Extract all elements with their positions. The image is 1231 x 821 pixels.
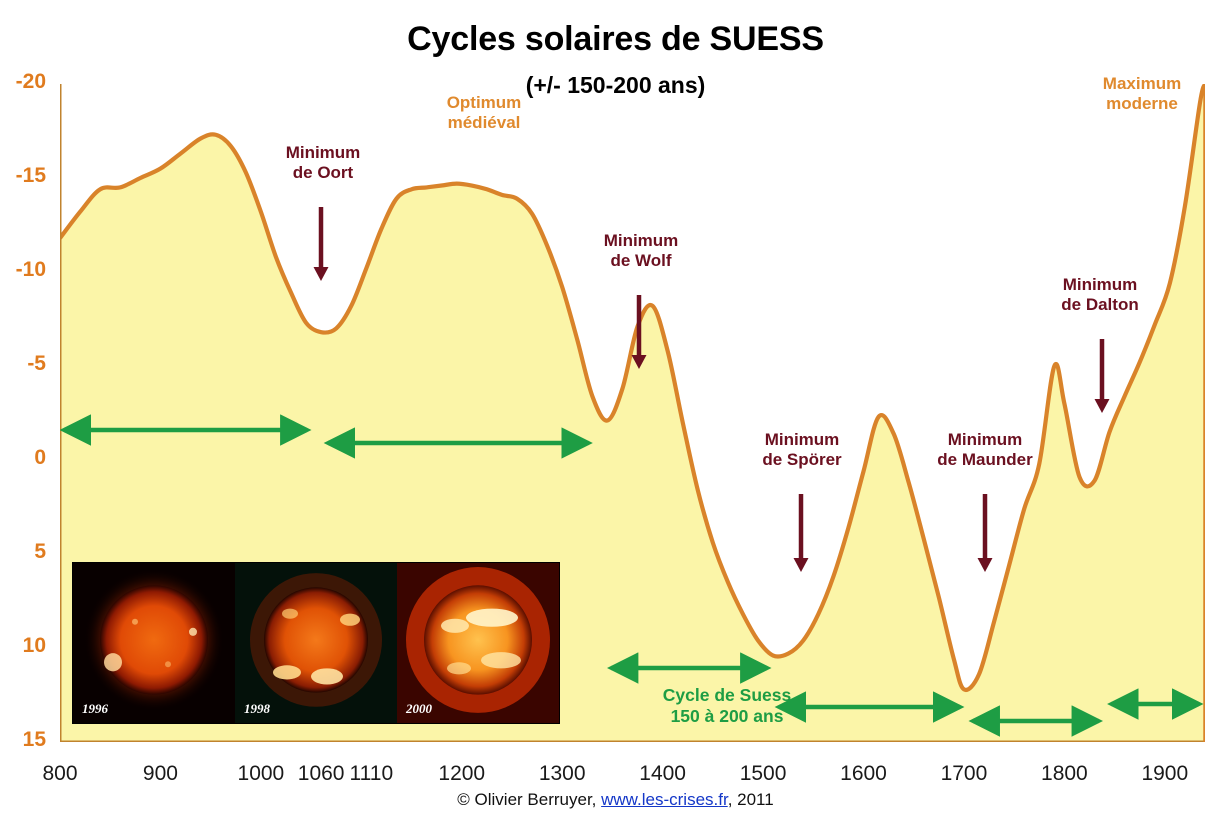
y-axis-label: 5 <box>0 540 46 564</box>
annotation-line-2: médiéval <box>394 113 574 133</box>
minimum-de-dalton-arrow <box>1095 339 1110 413</box>
x-axis-label: 1300 <box>517 762 607 786</box>
chart-title: Cycles solaires de SUESS <box>0 20 1231 59</box>
sun-image-year: 1998 <box>244 701 270 717</box>
cycle-label-line-2: 150 à 200 ans <box>627 706 827 727</box>
minimum-de-sporer-arrow <box>794 494 809 572</box>
copyright-footer: © Olivier Berruyer, www.les-crises.fr, 2… <box>0 790 1231 810</box>
annotation-line-2: moderne <box>1052 94 1231 114</box>
website-link[interactable]: www.les-crises.fr <box>601 790 728 809</box>
annotation-line-2: de Dalton <box>1010 295 1190 315</box>
solar-cycles-chart: Cycles solaires de SUESS (+/- 150-200 an… <box>0 0 1231 821</box>
minimum-de-dalton-label: Minimumde Dalton <box>1010 275 1190 315</box>
annotation-line-2: de Spörer <box>712 450 892 470</box>
y-axis-label: 0 <box>0 446 46 470</box>
x-axis-label: 1110 <box>326 762 416 786</box>
x-axis-label: 1600 <box>819 762 909 786</box>
annotation-line-1: Maximum <box>1052 74 1231 94</box>
x-axis-label: 1900 <box>1120 762 1210 786</box>
x-axis-label: 1400 <box>618 762 708 786</box>
sun-image-2000: 2000 <box>397 563 559 723</box>
y-axis-label: -5 <box>0 352 46 376</box>
copyright-suffix: , 2011 <box>728 790 774 809</box>
x-axis-label: 1200 <box>417 762 507 786</box>
annotation-line-1: Minimum <box>551 231 731 251</box>
maximum-moderne-label: Maximummoderne <box>1052 74 1231 114</box>
sun-images-inset: 1996 1998 <box>72 562 560 724</box>
x-axis-label: 800 <box>15 762 105 786</box>
minimum-de-oort-arrow <box>314 207 329 281</box>
sun-image-1996: 1996 <box>73 563 235 723</box>
annotation-line-1: Minimum <box>1010 275 1190 295</box>
y-axis-label: 10 <box>0 634 46 658</box>
annotation-line-1: Minimum <box>233 143 413 163</box>
sun-icon <box>73 563 235 723</box>
sun-icon <box>397 563 559 723</box>
sun-image-1998: 1998 <box>235 563 397 723</box>
y-axis-label: -10 <box>0 258 46 282</box>
minimum-de-oort-label: Minimumde Oort <box>233 143 413 183</box>
minimum-de-sporer-label: Minimumde Spörer <box>712 430 892 470</box>
annotation-line-2: de Wolf <box>551 251 731 271</box>
y-axis-label: -20 <box>0 70 46 94</box>
minimum-de-wolf-label: Minimumde Wolf <box>551 231 731 271</box>
x-axis-label: 1500 <box>718 762 808 786</box>
x-axis-label: 1700 <box>919 762 1009 786</box>
y-axis-label: 15 <box>0 728 46 752</box>
sun-image-year: 1996 <box>82 701 108 717</box>
sun-image-year: 2000 <box>406 701 432 717</box>
annotation-line-2: de Oort <box>233 163 413 183</box>
annotation-line-1: Minimum <box>712 430 892 450</box>
sun-icon <box>235 563 397 723</box>
minimum-de-maunder-arrow <box>978 494 993 572</box>
cycle-de-suess-label: Cycle de Suess150 à 200 ans <box>627 685 827 726</box>
minimum-de-maunder-label: Minimumde Maunder <box>895 430 1075 470</box>
cycle-label-line-1: Cycle de Suess <box>627 685 827 706</box>
x-axis-label: 900 <box>115 762 205 786</box>
y-axis-label: -15 <box>0 164 46 188</box>
annotation-line-2: de Maunder <box>895 450 1075 470</box>
copyright-prefix: © Olivier Berruyer, <box>457 790 601 809</box>
annotation-line-1: Minimum <box>895 430 1075 450</box>
optimum-medieval-label: Optimummédiéval <box>394 93 574 133</box>
annotation-line-1: Optimum <box>394 93 574 113</box>
x-axis-label: 1800 <box>1019 762 1109 786</box>
